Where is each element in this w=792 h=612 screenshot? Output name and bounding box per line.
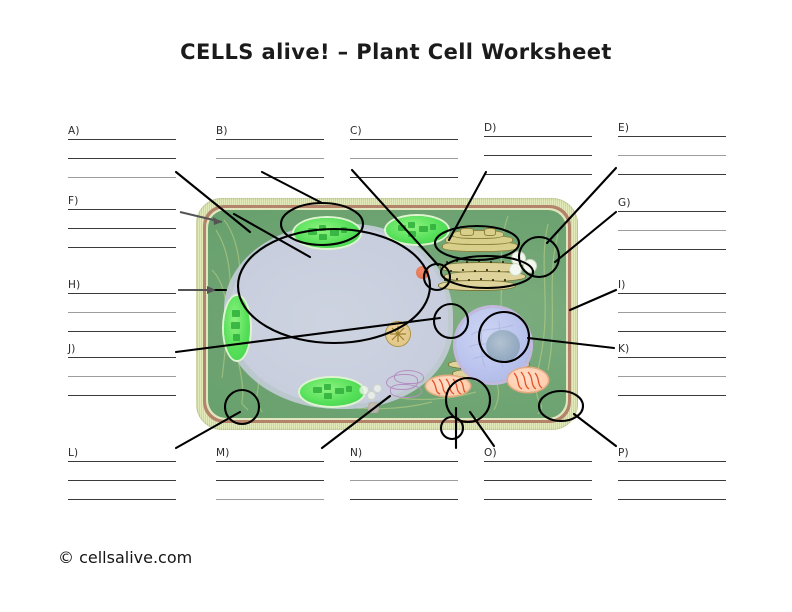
answer-rule-line[interactable] — [216, 480, 324, 481]
lysosome — [416, 266, 429, 279]
cristae — [508, 368, 548, 392]
answer-rule-line[interactable] — [350, 177, 458, 178]
answer-rule-line[interactable] — [68, 461, 176, 462]
page-title: CELLS alive! – Plant Cell Worksheet — [0, 40, 792, 64]
nucleolus — [486, 330, 520, 362]
chloroplast-top-left — [294, 218, 360, 248]
answer-rule-line[interactable] — [618, 174, 726, 175]
answer-blank-label: O) — [484, 448, 497, 459]
answer-blank-label: D) — [484, 123, 497, 134]
worksheet-page: CELLS alive! – Plant Cell Worksheet A)B)… — [0, 0, 792, 612]
answer-rule-line[interactable] — [618, 155, 726, 156]
centriole — [368, 402, 379, 413]
answer-blank-label: K) — [618, 344, 629, 355]
answer-rule-line[interactable] — [350, 139, 458, 140]
answer-rule-line[interactable] — [618, 230, 726, 231]
answer-rule-line[interactable] — [484, 136, 592, 137]
answer-blank-label: A) — [68, 126, 80, 137]
answer-blank-label: F) — [68, 196, 79, 207]
answer-rule-line[interactable] — [618, 461, 726, 462]
answer-blank-label: B) — [216, 126, 228, 137]
mitochondrion-right — [508, 368, 548, 392]
answer-blank-label: H) — [68, 280, 80, 291]
answer-rule-line[interactable] — [68, 293, 176, 294]
answer-blank-label: I) — [618, 280, 626, 291]
leader-P — [574, 414, 616, 446]
chloroplast-top-right — [386, 216, 448, 244]
answer-blank-label: M) — [216, 448, 230, 459]
answer-rule-line[interactable] — [68, 312, 176, 313]
plant-cell-diagram — [196, 198, 578, 430]
golgi-apparatus — [440, 228, 518, 256]
chloroplast-bottom — [300, 378, 364, 406]
vesicle — [360, 386, 368, 394]
smooth-er — [384, 368, 428, 402]
vesicle — [374, 385, 381, 392]
answer-rule-line[interactable] — [68, 228, 176, 229]
answer-rule-line[interactable] — [618, 480, 726, 481]
answer-rule-line[interactable] — [618, 331, 726, 332]
answer-rule-line[interactable] — [350, 480, 458, 481]
answer-rule-line[interactable] — [68, 158, 176, 159]
answer-rule-line[interactable] — [216, 461, 324, 462]
answer-rule-line[interactable] — [350, 499, 458, 500]
answer-rule-line[interactable] — [68, 177, 176, 178]
vesicle — [510, 264, 521, 275]
vesicle — [368, 392, 375, 399]
answer-blank-label: C) — [350, 126, 362, 137]
answer-rule-line[interactable] — [618, 293, 726, 294]
answer-rule-line[interactable] — [484, 480, 592, 481]
answer-rule-line[interactable] — [618, 211, 726, 212]
answer-rule-line[interactable] — [484, 174, 592, 175]
answer-rule-line[interactable] — [618, 312, 726, 313]
answer-rule-line[interactable] — [484, 461, 592, 462]
answer-rule-line[interactable] — [216, 177, 324, 178]
answer-blank-label: L) — [68, 448, 78, 459]
answer-blank-label: E) — [618, 123, 629, 134]
answer-rule-line[interactable] — [618, 499, 726, 500]
answer-rule-line[interactable] — [618, 136, 726, 137]
answer-rule-line[interactable] — [68, 357, 176, 358]
answer-rule-line[interactable] — [68, 247, 176, 248]
answer-rule-line[interactable] — [216, 499, 324, 500]
answer-rule-line[interactable] — [216, 139, 324, 140]
vesicle — [524, 260, 536, 272]
answer-rule-line[interactable] — [68, 139, 176, 140]
peroxisome — [386, 322, 410, 346]
chloroplast-left — [224, 296, 250, 360]
answer-rule-line[interactable] — [350, 461, 458, 462]
answer-blank-label: P) — [618, 448, 629, 459]
answer-blank-label: J) — [68, 344, 76, 355]
answer-rule-line[interactable] — [68, 480, 176, 481]
answer-rule-line[interactable] — [484, 155, 592, 156]
answer-rule-line[interactable] — [216, 158, 324, 159]
answer-blank-label: G) — [618, 198, 631, 209]
cytoplasm — [208, 210, 566, 418]
answer-rule-line[interactable] — [618, 395, 726, 396]
answer-blank-label: N) — [350, 448, 362, 459]
answer-rule-line[interactable] — [68, 376, 176, 377]
answer-rule-line[interactable] — [68, 395, 176, 396]
mitochondrion-center — [426, 376, 470, 396]
cristae — [426, 376, 470, 396]
answer-rule-line[interactable] — [618, 249, 726, 250]
answer-rule-line[interactable] — [68, 499, 176, 500]
answer-rule-line[interactable] — [68, 331, 176, 332]
answer-rule-line[interactable] — [350, 158, 458, 159]
peroxisome-core — [386, 322, 410, 346]
copyright-credit: © cellsalive.com — [58, 548, 192, 567]
answer-rule-line[interactable] — [484, 499, 592, 500]
answer-rule-line[interactable] — [618, 357, 726, 358]
answer-rule-line[interactable] — [618, 376, 726, 377]
answer-rule-line[interactable] — [68, 209, 176, 210]
